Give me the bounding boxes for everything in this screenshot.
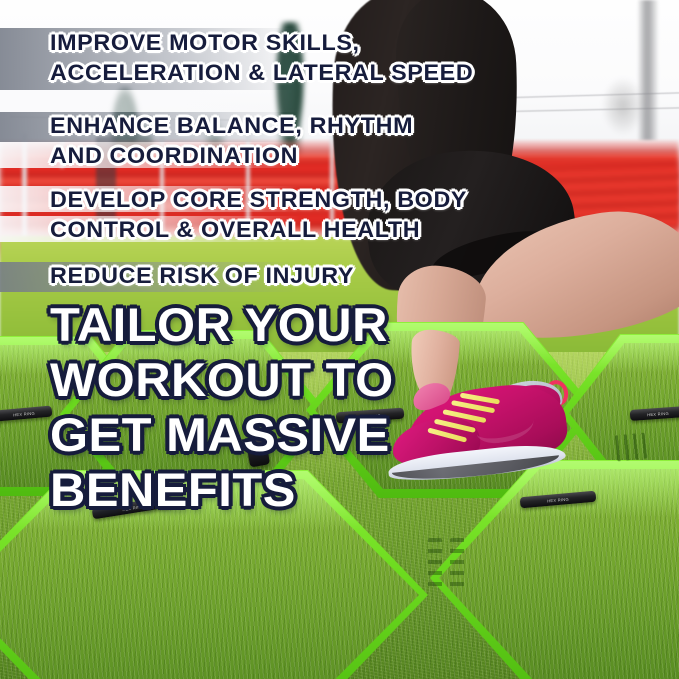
copy-overlay: IMPROVE MOTOR SKILLS, ACCELERATION & LAT… [0,0,679,679]
headline-line-2: WORKOUT TO [50,352,394,407]
benefit-balance-line-2: AND COORDINATION [50,143,298,169]
headline-line-4: BENEFITS [50,462,296,517]
headline-line-1: TAILOR YOUR [50,297,388,352]
product-feature-graphic: HEX RING HEX RING HEX RING HEX RING HEX … [0,0,679,679]
benefit-core-strength-line-1: DEVELOP CORE STRENGTH, BODY [50,187,467,213]
benefit-motor-skills-line-1: IMPROVE MOTOR SKILLS, [50,30,360,56]
text-backing-bar [0,90,300,112]
benefit-core-strength-line-2: CONTROL & OVERALL HEALTH [50,217,420,243]
benefit-injury-risk-line-1: REDUCE RISK OF INJURY [50,263,354,289]
benefit-balance-line-1: ENHANCE BALANCE, RHYTHM [50,113,413,139]
benefit-motor-skills-line-2: ACCELERATION & LATERAL SPEED [50,60,473,86]
headline-line-3: GET MASSIVE [50,407,390,462]
